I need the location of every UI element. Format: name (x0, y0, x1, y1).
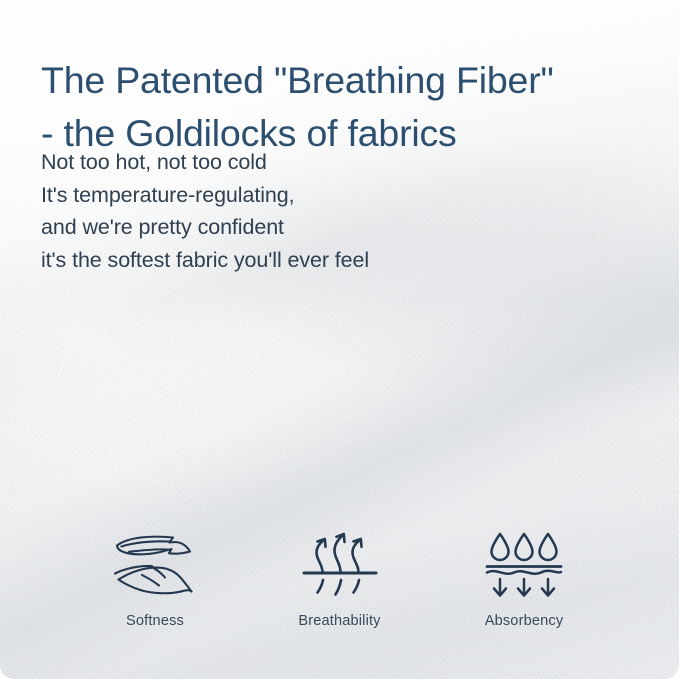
feature-label-breathability: Breathability (298, 613, 380, 629)
subcopy-line-2: It's temperature-regulating, (41, 179, 369, 212)
feature-softness: Softness (63, 528, 247, 629)
subcopy-line-1: Not too hot, not too cold (41, 146, 369, 179)
subcopy: Not too hot, not too cold It's temperatu… (41, 146, 369, 276)
feature-row: Softness (63, 528, 616, 629)
subcopy-line-4: it's the softest fabric you'll ever feel (41, 244, 369, 277)
subcopy-line-3: and we're pretty confident (41, 211, 369, 244)
feature-label-absorbency: Absorbency (485, 613, 564, 629)
content-layer: The Patented "Breathing Fiber" - the Gol… (0, 0, 679, 679)
upward-airflow-arrows-icon (300, 528, 380, 602)
feature-graphic-canvas: The Patented "Breathing Fiber" - the Gol… (0, 0, 679, 679)
feature-label-softness: Softness (126, 613, 184, 629)
headline-line-1: The Patented "Breathing Fiber" (41, 54, 653, 107)
water-drops-absorbing-icon (483, 528, 565, 602)
headline: The Patented "Breathing Fiber" - the Gol… (41, 54, 653, 160)
feature-absorbency: Absorbency (432, 528, 616, 629)
feature-breathability: Breathability (248, 528, 432, 629)
feather-on-hand-icon (109, 528, 201, 602)
